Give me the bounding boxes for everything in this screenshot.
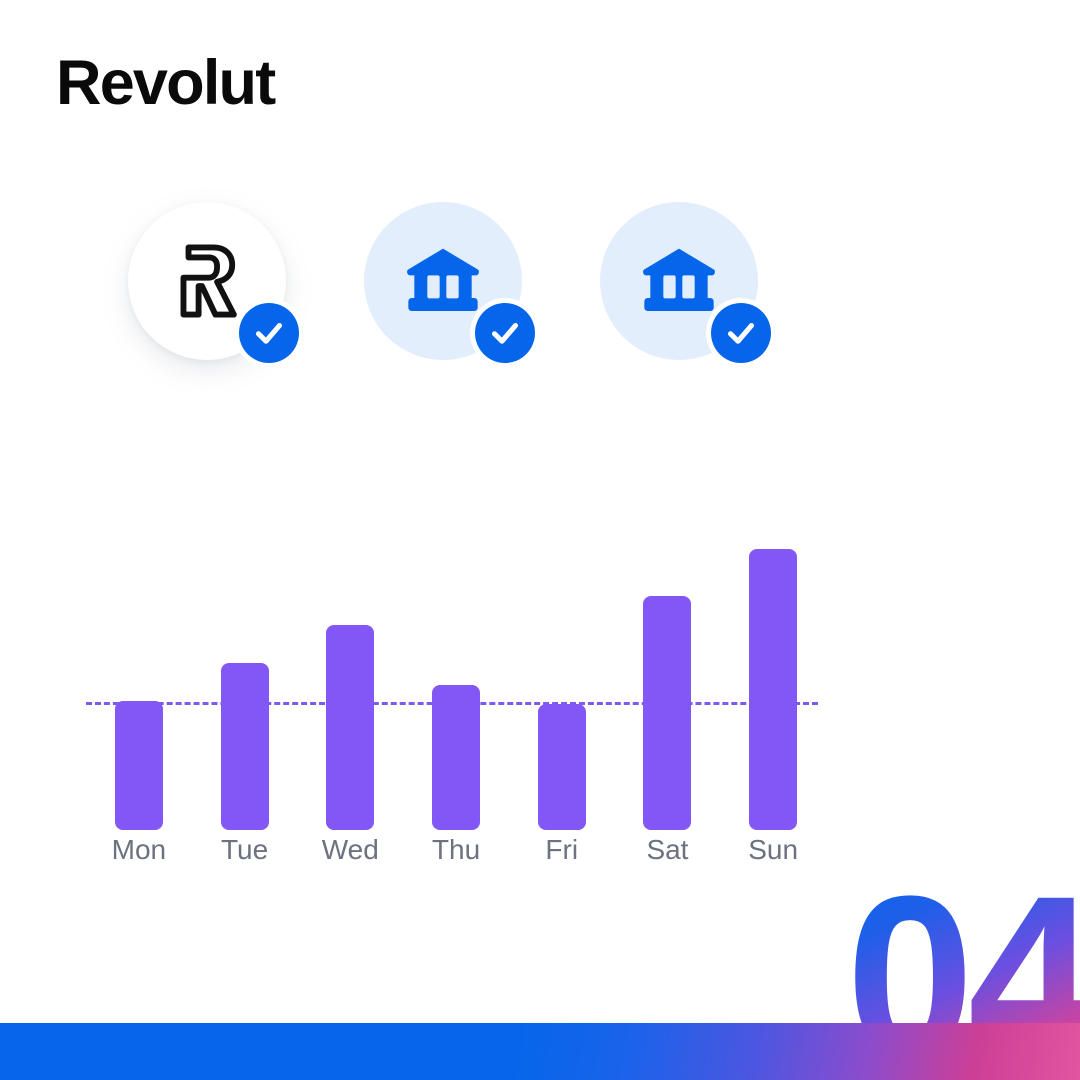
chart-x-axis-labels: MonTueWedThuFriSatSun [86,834,826,866]
check-icon [239,303,299,363]
axis-label-wed: Wed [297,834,403,866]
linked-accounts-row [128,202,758,360]
verified-badge [706,298,776,368]
axis-label-thu: Thu [403,834,509,866]
axis-label-fri: Fri [509,834,615,866]
bar-mon[interactable] [115,701,163,830]
bar-tue[interactable] [221,663,269,830]
bar-wed[interactable] [326,625,374,830]
bar-column-sat[interactable] [615,540,721,830]
verified-badge [470,298,540,368]
axis-label-mon: Mon [86,834,192,866]
bar-column-mon[interactable] [86,540,192,830]
weekly-bar-chart: MonTueWedThuFriSatSun [86,540,826,890]
axis-label-sun: Sun [720,834,826,866]
bank-icon [403,241,483,321]
verified-badge [234,298,304,368]
axis-label-tue: Tue [192,834,298,866]
brand-logo: Revolut [56,52,274,115]
check-icon [475,303,535,363]
bar-fri[interactable] [538,704,586,830]
check-icon [711,303,771,363]
bank-icon [639,241,719,321]
account-item-revolut[interactable] [128,202,286,360]
poster-canvas: Revolut [0,0,1080,1080]
bar-thu[interactable] [432,685,480,830]
bar-column-sun[interactable] [720,540,826,830]
bar-column-fri[interactable] [509,540,615,830]
chart-bars [86,540,826,830]
bar-sun[interactable] [749,549,797,830]
bottom-accent-bar [0,1023,1080,1080]
account-item-bank-1[interactable] [364,202,522,360]
bar-sat[interactable] [643,596,691,830]
bar-column-tue[interactable] [192,540,298,830]
account-item-bank-2[interactable] [600,202,758,360]
chart-plot-area [86,540,826,830]
axis-label-sat: Sat [615,834,721,866]
bar-column-wed[interactable] [297,540,403,830]
bar-column-thu[interactable] [403,540,509,830]
revolut-r-icon [165,239,249,323]
